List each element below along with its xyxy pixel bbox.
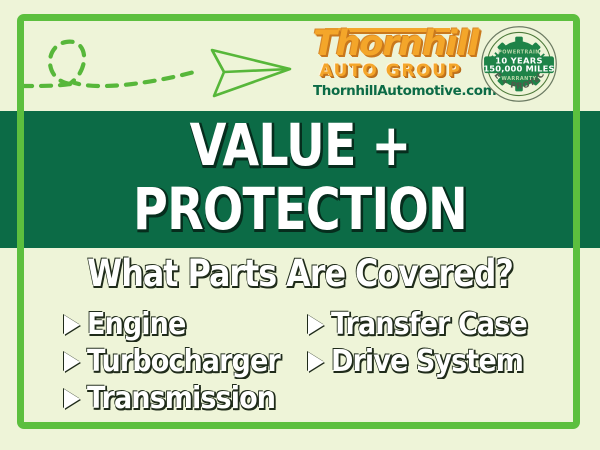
- logo-website-url: ThornhillAutomotive.com: [313, 84, 468, 99]
- thornhill-auto-group-logo: Thornhill AUTO GROUP ThornhillAutomotive…: [313, 26, 468, 104]
- triangle-bullet-icon: [64, 315, 80, 335]
- list-item-label: Drive System: [331, 346, 523, 378]
- list-item: Transmission: [64, 380, 301, 417]
- page-title: VALUE + PROTECTION: [0, 113, 600, 241]
- triangle-bullet-icon: [64, 389, 80, 409]
- list-item: Turbocharger: [64, 343, 301, 380]
- seal-warranty-text: WARRANTY: [501, 76, 536, 82]
- seal-powertrain-text: POWERTRAIN: [498, 49, 540, 55]
- list-item: Drive System: [308, 343, 549, 380]
- list-item-label: Transfer Case: [331, 309, 527, 341]
- seal-miles-text: 150,000 MILES: [483, 64, 554, 74]
- value-protection-poster: Thornhill AUTO GROUP ThornhillAutomotive…: [0, 0, 600, 450]
- logo-subtitle: AUTO GROUP: [313, 62, 468, 81]
- logo-wordmark: Thornhill: [313, 26, 468, 63]
- flight-path-svg: [22, 24, 302, 106]
- covered-parts-right-column: Transfer Case Drive System: [308, 306, 549, 380]
- headline-line-2: PROTECTION: [54, 177, 546, 241]
- triangle-bullet-icon: [308, 315, 324, 335]
- list-item-label: Engine: [87, 309, 185, 341]
- triangle-bullet-icon: [64, 352, 80, 372]
- warranty-seal-svg: THORNHILL VALUE + PROTECTION POWERTRAIN …: [481, 26, 557, 102]
- headline-line-1: VALUE +: [54, 113, 546, 177]
- subheading: What Parts Are Covered?: [42, 252, 558, 296]
- list-item-label: Turbocharger: [87, 346, 280, 378]
- list-item: Transfer Case: [308, 306, 549, 343]
- dashed-flight-path-decoration: [22, 24, 302, 106]
- covered-parts-lists: Engine Turbocharger Transmission Transfe…: [0, 306, 600, 418]
- list-item: Engine: [64, 306, 301, 343]
- warranty-seal-badge: THORNHILL VALUE + PROTECTION POWERTRAIN …: [481, 26, 557, 102]
- list-item-label: Transmission: [87, 383, 275, 415]
- triangle-bullet-icon: [308, 352, 324, 372]
- covered-parts-left-column: Engine Turbocharger Transmission: [64, 306, 301, 417]
